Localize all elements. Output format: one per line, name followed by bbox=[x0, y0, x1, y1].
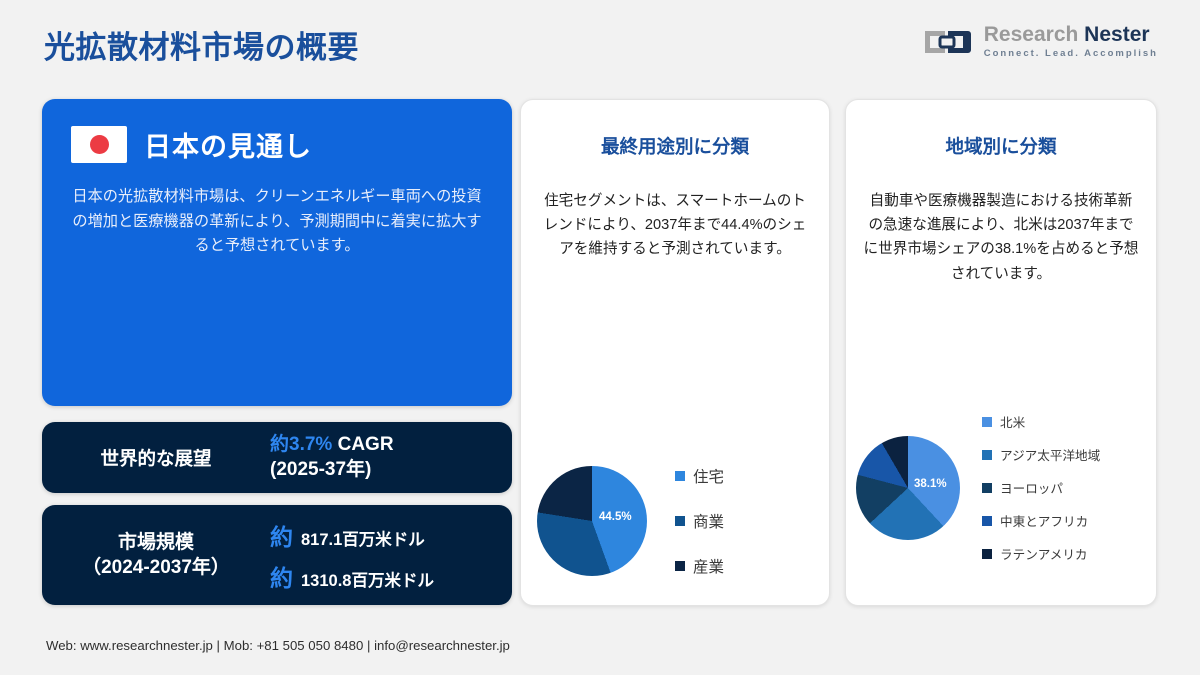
market-size-value-2: 1310.8百万米ドル bbox=[301, 567, 434, 591]
japan-flag-icon bbox=[71, 126, 127, 163]
segment-breakdown-card: 最終用途別に分類 住宅セグメントは、スマートホームのトレンドにより、2037年ま… bbox=[520, 99, 830, 606]
legend-swatch-icon bbox=[982, 450, 992, 460]
market-size-row: 約 817.1百万米ドル bbox=[270, 518, 434, 552]
region-pie-highlight-label: 38.1% bbox=[914, 478, 947, 490]
segment-pie-highlight-label: 44.5% bbox=[599, 511, 632, 523]
region-pie-graphic: 38.1% bbox=[856, 436, 960, 540]
interlocking-squares-icon bbox=[922, 25, 974, 59]
market-size-row: 約 1310.8百万米ドル bbox=[270, 559, 434, 593]
legend-label: 中東とアフリカ bbox=[1000, 511, 1088, 530]
logo-word-research: Research bbox=[984, 23, 1079, 46]
legend-label: 住宅 bbox=[693, 465, 724, 487]
legend-swatch-icon bbox=[675, 561, 685, 571]
logo-tagline: Connect. Lead. Accomplish bbox=[984, 48, 1158, 59]
market-size-values: 約 817.1百万米ドル 約 1310.8百万米ドル bbox=[270, 518, 434, 593]
global-cagr-accent: 約3.7% bbox=[270, 434, 332, 455]
legend-item: 北米 bbox=[982, 412, 1100, 431]
logo-text: Research Nester Connect. Lead. Accomplis… bbox=[984, 24, 1158, 59]
japan-card-body: 日本の光拡散材料市場は、クリーンエネルギー車両への投資の増加と医療機器の革新によ… bbox=[68, 185, 486, 259]
region-pie-chart: 38.1% 北米アジア太平洋地域ヨーロッパ中東とアフリカラテンアメリカ bbox=[856, 412, 1148, 563]
page-title: 光拡散材料市場の概要 bbox=[44, 22, 359, 67]
market-size-label: 市場規模 （2024-2037年） bbox=[42, 530, 270, 581]
region-card-title: 地域別に分類 bbox=[846, 133, 1156, 159]
market-size-label-line2: （2024-2037年） bbox=[42, 555, 270, 580]
segment-pie-legend: 住宅商業産業 bbox=[675, 465, 724, 577]
japan-outlook-card: 日本の見通し 日本の光拡散材料市場は、クリーンエネルギー車両への投資の増加と医療… bbox=[42, 99, 512, 406]
legend-item: アジア太平洋地域 bbox=[982, 445, 1100, 464]
japan-card-header: 日本の見通し bbox=[71, 125, 512, 164]
global-cagr-rest: CAGR bbox=[332, 434, 393, 455]
legend-label: 産業 bbox=[693, 555, 724, 577]
legend-swatch-icon bbox=[982, 516, 992, 526]
segment-pie-chart: 44.5% 住宅商業産業 bbox=[537, 465, 815, 577]
brand-logo: Research Nester Connect. Lead. Accomplis… bbox=[922, 24, 1158, 59]
flag-red-disc bbox=[90, 135, 109, 154]
legend-label: ヨーロッパ bbox=[1000, 478, 1063, 497]
market-size-approx-2: 約 bbox=[270, 559, 293, 593]
global-cagr-period: (2025-37年) bbox=[270, 458, 394, 482]
legend-label: 商業 bbox=[693, 510, 724, 532]
global-cagr-line: 約3.7% CAGR bbox=[270, 433, 394, 457]
japan-card-title: 日本の見通し bbox=[144, 125, 312, 164]
legend-label: 北米 bbox=[1000, 412, 1025, 431]
legend-swatch-icon bbox=[982, 417, 992, 427]
region-card-body: 自動車や医療機器製造における技術革新の急速な進展により、北米は2037年までに世… bbox=[863, 189, 1139, 286]
legend-item: ヨーロッパ bbox=[982, 478, 1100, 497]
segment-card-title: 最終用途別に分類 bbox=[521, 133, 829, 159]
legend-swatch-icon bbox=[675, 516, 685, 526]
legend-item: 産業 bbox=[675, 555, 724, 577]
legend-item: ラテンアメリカ bbox=[982, 544, 1100, 563]
logo-word-nester: Nester bbox=[1084, 23, 1149, 46]
region-pie-legend: 北米アジア太平洋地域ヨーロッパ中東とアフリカラテンアメリカ bbox=[982, 412, 1100, 563]
market-size-label-line1: 市場規模 bbox=[42, 530, 270, 555]
page-header: 光拡散材料市場の概要 Research Nester Connect. Lead… bbox=[0, 0, 1200, 92]
legend-swatch-icon bbox=[982, 483, 992, 493]
legend-item: 商業 bbox=[675, 510, 724, 532]
global-outlook-label: 世界的な展望 bbox=[42, 445, 270, 471]
segment-pie-graphic: 44.5% bbox=[537, 466, 647, 576]
legend-item: 中東とアフリカ bbox=[982, 511, 1100, 530]
market-size-approx-1: 約 bbox=[270, 518, 293, 552]
market-size-value-1: 817.1百万米ドル bbox=[301, 526, 425, 550]
market-size-card: 市場規模 （2024-2037年） 約 817.1百万米ドル 約 1310.8百… bbox=[42, 505, 512, 605]
legend-swatch-icon bbox=[982, 549, 992, 559]
legend-swatch-icon bbox=[675, 471, 685, 481]
logo-wordmark: Research Nester bbox=[984, 24, 1150, 46]
segment-card-body: 住宅セグメントは、スマートホームのトレンドにより、2037年まで44.4%のシェ… bbox=[538, 189, 812, 262]
region-breakdown-card: 地域別に分類 自動車や医療機器製造における技術革新の急速な進展により、北米は20… bbox=[845, 99, 1157, 606]
global-outlook-value: 約3.7% CAGR (2025-37年) bbox=[270, 433, 394, 482]
legend-item: 住宅 bbox=[675, 465, 724, 487]
global-outlook-card: 世界的な展望 約3.7% CAGR (2025-37年) bbox=[42, 422, 512, 493]
legend-label: アジア太平洋地域 bbox=[1000, 445, 1100, 464]
legend-label: ラテンアメリカ bbox=[1000, 544, 1088, 563]
footer-contact: Web: www.researchnester.jp | Mob: +81 50… bbox=[46, 638, 510, 653]
